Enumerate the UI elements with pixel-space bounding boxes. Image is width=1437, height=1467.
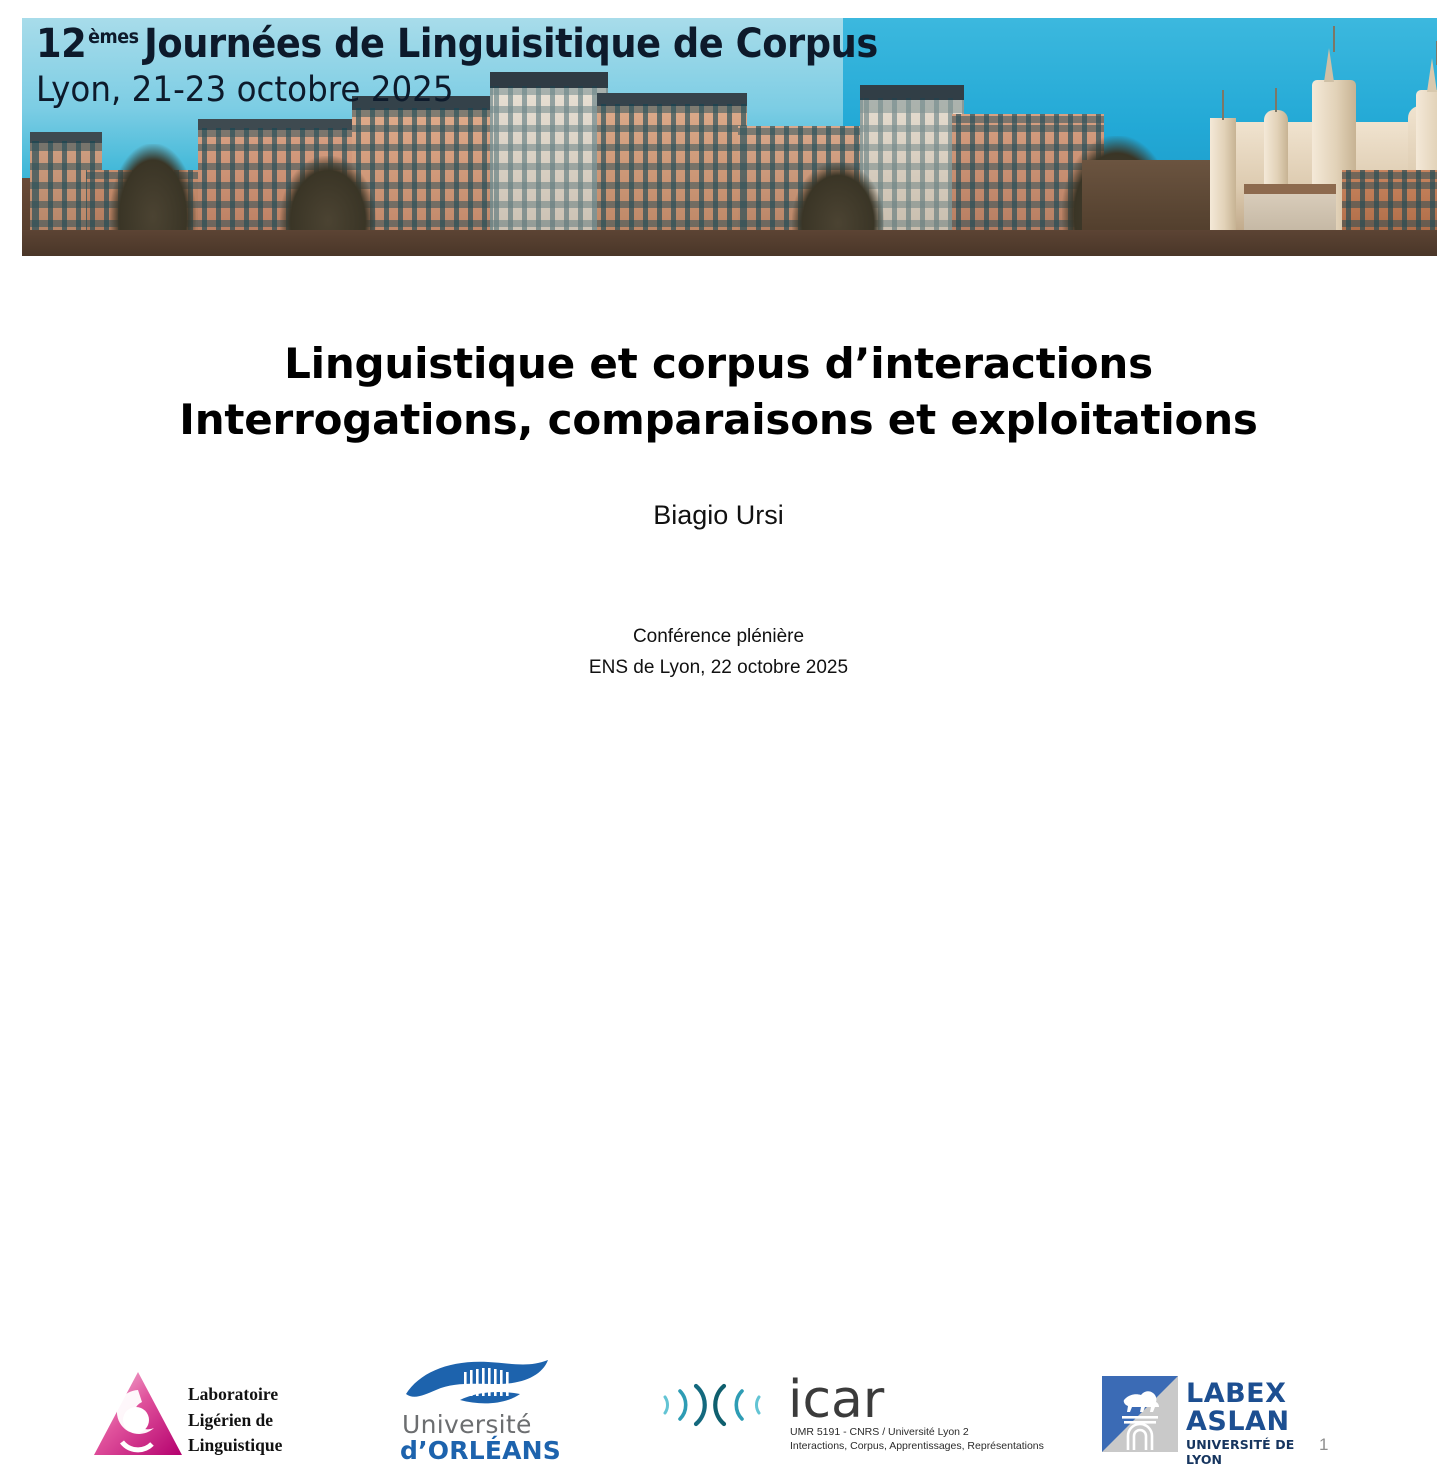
icar-sub-line-1: UMR 5191 - CNRS / Université Lyon 2 <box>790 1426 1044 1440</box>
banner-edition-number: 12 <box>36 21 86 67</box>
title-line-2: Interrogations, comparaisons et exploita… <box>0 392 1437 448</box>
icar-subtitle: UMR 5191 - CNRS / Université Lyon 2 Inte… <box>790 1426 1044 1454</box>
orleans-line-2: d’ORLÉANS <box>400 1436 561 1465</box>
icar-sound-waves-icon <box>660 1382 782 1428</box>
lll-triangle-spiral-icon <box>92 1370 184 1458</box>
aslan-lion-emblem-icon <box>1102 1376 1178 1452</box>
banner-foreground <box>22 230 1437 256</box>
lll-line-1: Laboratoire <box>188 1382 282 1408</box>
aslan-line-3: UNIVERSITÉ DE LYON <box>1186 1437 1334 1467</box>
aslan-line-1: LABEX <box>1186 1378 1286 1409</box>
slide-number: 1 <box>1319 1435 1328 1455</box>
logo-labex-aslan: LABEX ASLAN UNIVERSITÉ DE LYON <box>1102 1376 1334 1460</box>
lll-wordmark: Laboratoire Ligérien de Linguistique <box>188 1382 282 1459</box>
banner-event-name: Journées de Linguisitique de Corpus <box>144 21 878 67</box>
banner-ordinal-suffix: èmes <box>88 26 138 48</box>
title-line-1: Linguistique et corpus d’interactions <box>0 336 1437 392</box>
logo-icar: icar UMR 5191 - CNRS / Université Lyon 2… <box>660 1380 1052 1460</box>
orleans-line-1: Université <box>402 1410 532 1439</box>
basilica-needle <box>1275 88 1277 112</box>
basilica-turret <box>1210 118 1236 230</box>
banner-text: 12èmesJournées de Linguisitique de Corpu… <box>36 24 951 108</box>
banner-location-date: Lyon, 21-23 octobre 2025 <box>36 73 887 108</box>
conference-banner-image: 12èmesJournées de Linguisitique de Corpu… <box>22 18 1437 256</box>
icar-sub-line-2: Interactions, Corpus, Apprentissages, Re… <box>790 1440 1044 1454</box>
slide-title: Linguistique et corpus d’interactions In… <box>0 336 1437 448</box>
lll-line-2: Ligérien de <box>188 1408 282 1434</box>
author-name: Biagio Ursi <box>0 500 1437 531</box>
aslan-line-2: ASLAN <box>1186 1406 1290 1437</box>
logo-row: Laboratoire Ligérien de Linguistique Uni… <box>0 677 1437 807</box>
basilica-spire <box>1324 48 1334 82</box>
logo-laboratoire-ligerien-de-linguistique: Laboratoire Ligérien de Linguistique <box>92 1370 318 1462</box>
lll-line-3: Linguistique <box>188 1433 282 1459</box>
conference-details: Conférence plénière ENS de Lyon, 22 octo… <box>0 622 1437 684</box>
basilica-needle <box>1222 90 1224 120</box>
orleans-brushstroke-icon <box>402 1354 554 1412</box>
banner-event-title: 12èmesJournées de Linguisitique de Corpu… <box>36 24 878 64</box>
logo-universite-orleans: Université d’ORLÉANS <box>400 1354 560 1464</box>
icar-wordmark: icar <box>788 1370 884 1430</box>
conference-type: Conférence plénière <box>0 622 1437 653</box>
basilica-needle <box>1333 26 1335 52</box>
banner-roof <box>1244 184 1336 194</box>
